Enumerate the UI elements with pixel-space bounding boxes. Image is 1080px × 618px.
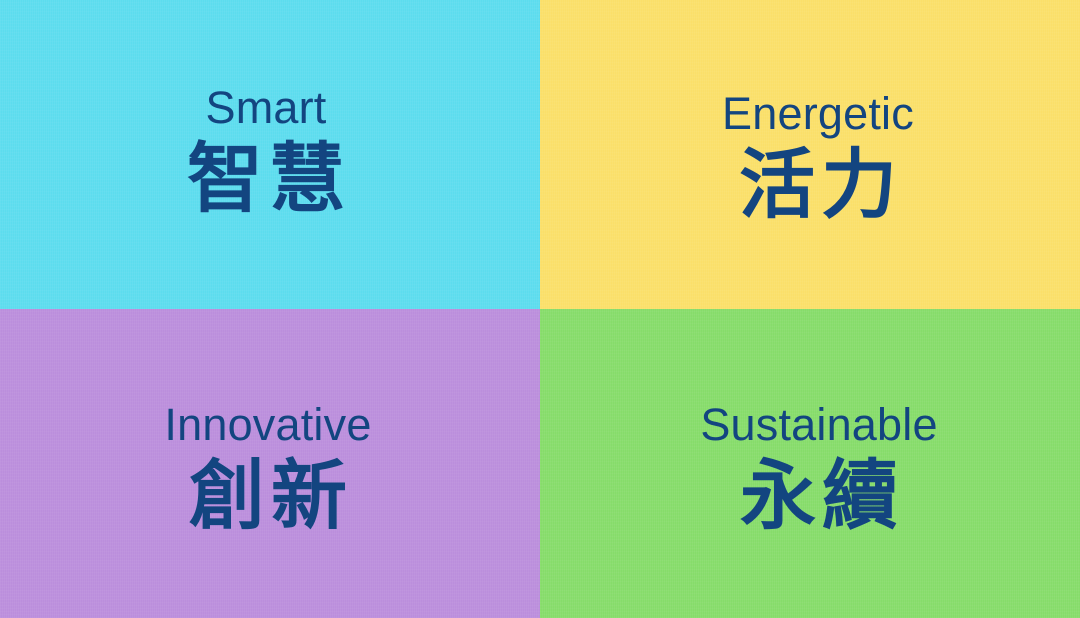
- quadrant-smart-label-zh: 智慧: [181, 139, 351, 220]
- quadrant-smart-content: Smart 智慧: [181, 85, 351, 219]
- quadrant-innovative-label-zh: 創新: [183, 456, 353, 537]
- quadrant-sustainable[interactable]: Sustainable 永續: [540, 309, 1080, 618]
- quadrant-innovative[interactable]: Innovative 創新: [0, 309, 540, 618]
- quadrant-innovative-content: Innovative 創新: [164, 402, 371, 536]
- quadrant-energetic-label-en: Energetic: [722, 91, 914, 137]
- quadrant-sustainable-content: Sustainable 永續: [700, 402, 937, 536]
- quadrant-board: Smart 智慧 Energetic 活力 Innovative 創新 Sust…: [0, 0, 1080, 618]
- quadrant-smart-label-en: Smart: [205, 85, 326, 131]
- quadrant-sustainable-label-en: Sustainable: [700, 402, 937, 448]
- quadrant-smart[interactable]: Smart 智慧: [0, 0, 540, 309]
- quadrant-sustainable-label-zh: 永續: [734, 456, 904, 537]
- quadrant-energetic-label-zh: 活力: [733, 145, 903, 226]
- quadrant-energetic-content: Energetic 活力: [722, 91, 914, 225]
- quadrant-energetic[interactable]: Energetic 活力: [540, 0, 1080, 309]
- quadrant-innovative-label-en: Innovative: [164, 402, 371, 448]
